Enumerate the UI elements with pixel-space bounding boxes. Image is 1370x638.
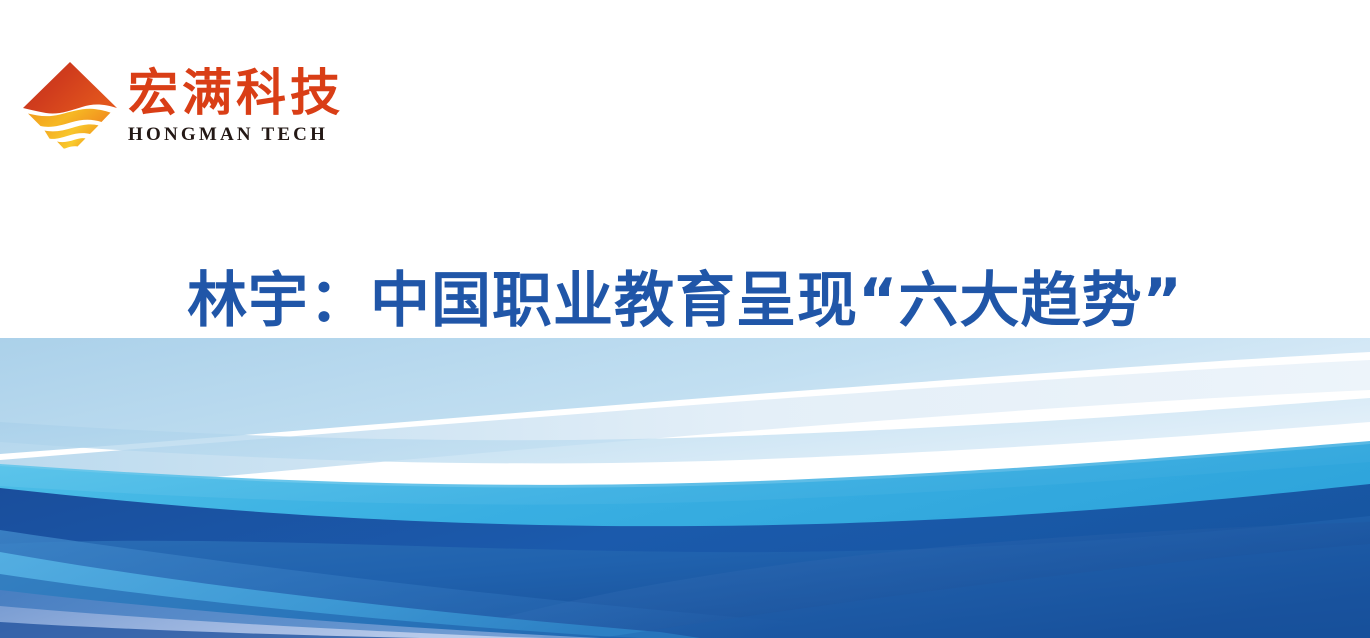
brand-name-cn: 宏满科技	[128, 68, 344, 118]
brand-name-en: HONGMAN TECH	[128, 125, 344, 144]
hongman-diamond-logo-icon	[22, 60, 118, 152]
blue-wave-graphic	[0, 338, 1370, 638]
brand-wordmark: 宏满科技 HONGMAN TECH	[128, 68, 344, 144]
brand-lockup[interactable]: 宏满科技 HONGMAN TECH	[22, 60, 344, 152]
banner-page: 宏满科技 HONGMAN TECH 林宇：中国职业教育呈现“六大趋势”	[0, 0, 1370, 638]
page-title: 林宇：中国职业教育呈现“六大趋势”	[0, 266, 1370, 337]
